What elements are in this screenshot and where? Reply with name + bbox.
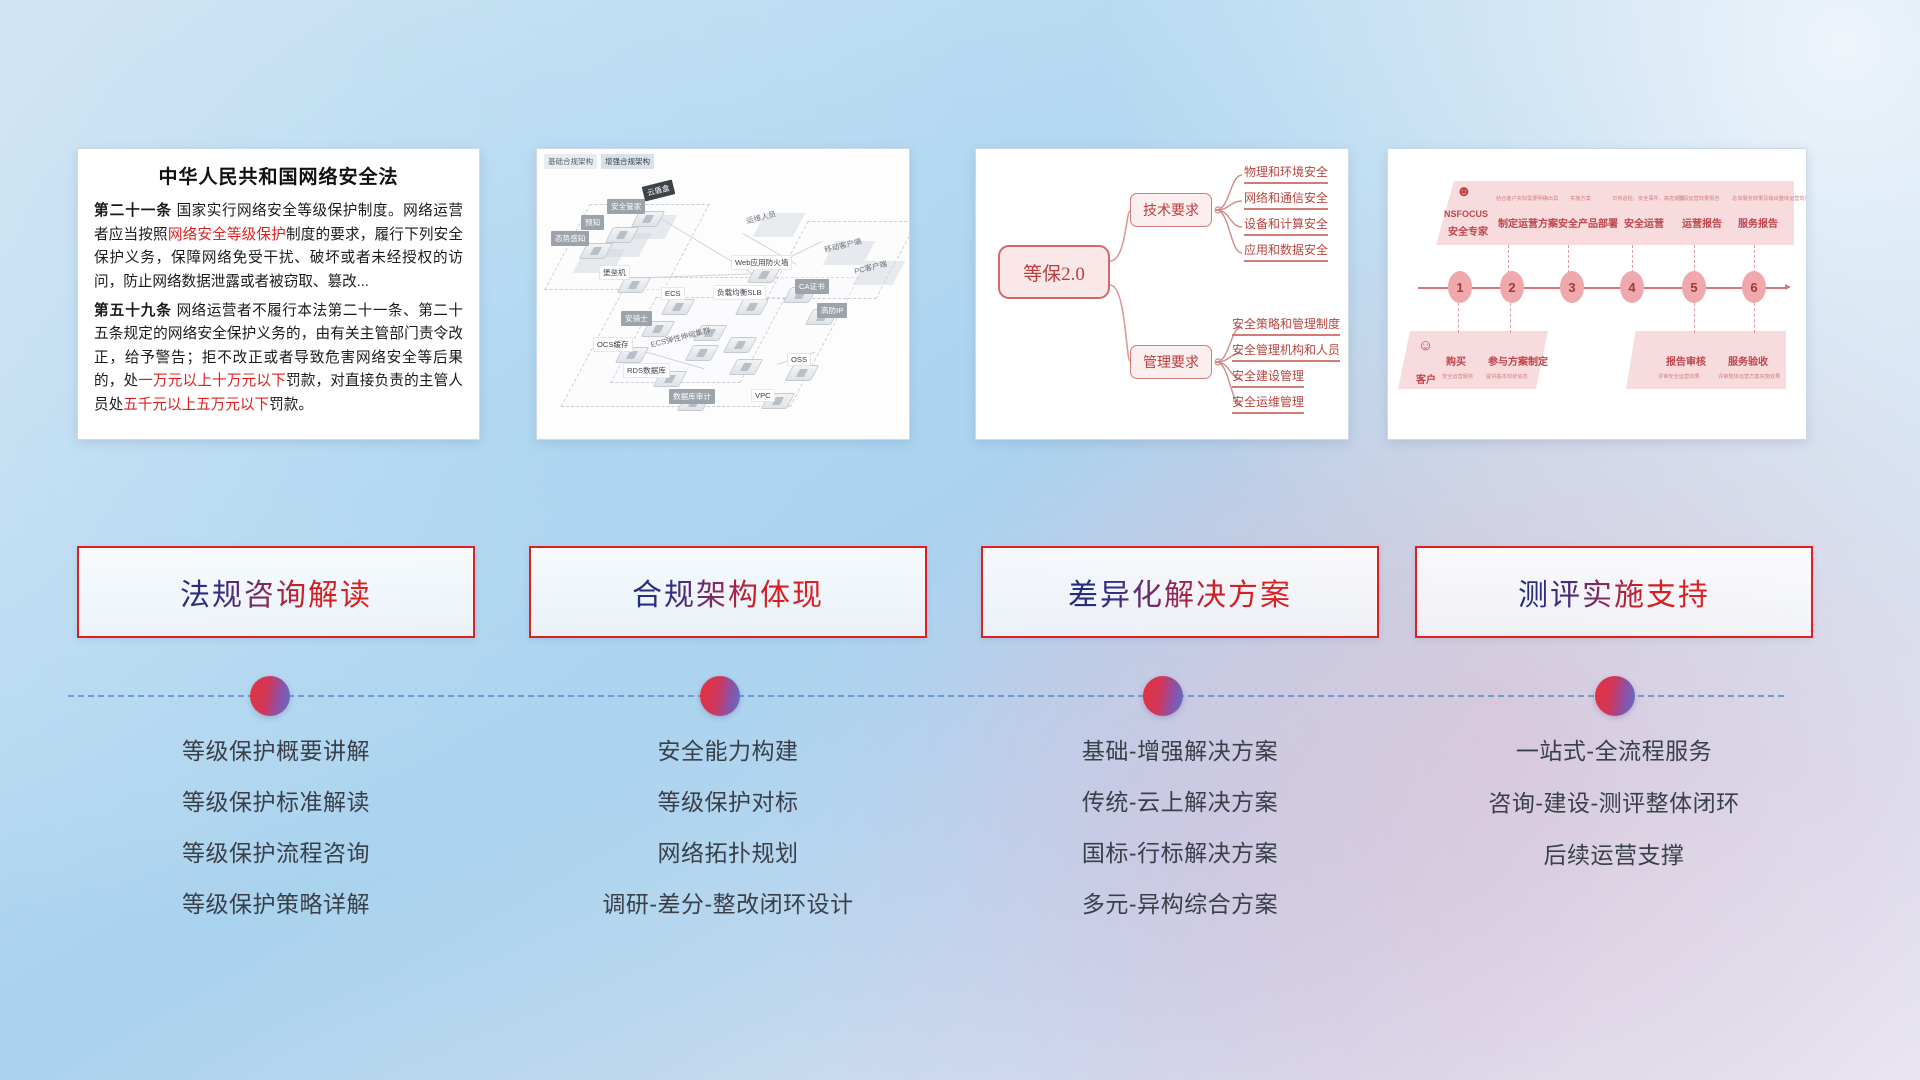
mindmap-branch-management[interactable]: 管理要求 xyxy=(1130,345,1212,379)
list-item: 等级保护流程咨询 xyxy=(77,842,475,865)
timeline-dashed-line xyxy=(68,695,1784,697)
mindmap-branch-technical[interactable]: 技术要求 xyxy=(1130,193,1212,227)
detail-list-4: 一站式-全流程服务 咨询-建设-测评整体闭环 后续运营支撑 xyxy=(1415,740,1813,896)
expert-brand: NSFOCUS xyxy=(1444,209,1488,219)
tab-basic-architecture[interactable]: 基础合规架构 xyxy=(544,154,597,169)
law-article-21: 第二十一条 国家实行网络安全等级保护制度。网络运营者应当按照网络安全等级保护制度… xyxy=(94,200,463,295)
mindmap-leaf-org-personnel: 安全管理机构和人员 xyxy=(1232,341,1340,362)
section-button-differentiated-solution[interactable]: 差异化解决方案 xyxy=(981,546,1379,638)
architecture-diagram: 基础合规架构 增强合规架构 xyxy=(537,149,909,439)
bottom-sub-3: 评审安全运营效果 xyxy=(1658,373,1700,380)
nsfocus-timeline: ☻ NSFOCUS 安全专家 结合客户实际需要明确出具 制定运营方案 实施方案 … xyxy=(1388,149,1806,439)
label-ecs: ECS xyxy=(661,287,685,300)
bottom-title-4: 服务验收 xyxy=(1728,353,1768,368)
list-item: 等级保护策略详解 xyxy=(77,893,475,916)
detail-list-2: 安全能力构建 等级保护对标 网络拓扑规划 调研-差分-整改闭环设计 xyxy=(529,740,927,944)
mindmap-leaf-app-data: 应用和数据安全 xyxy=(1244,241,1328,262)
law-article-59: 第五十九条 网络运营者不履行本法第二十一条、第二十五条规定的网络安全保护义务的，… xyxy=(94,300,463,418)
list-item: 等级保护标准解读 xyxy=(77,791,475,814)
article-21-highlight: 网络安全等级保护 xyxy=(168,227,286,243)
connector-top-2 xyxy=(1508,245,1509,273)
label-db-audit: 数据库审计 xyxy=(669,389,715,404)
section-button-compliance-architecture[interactable]: 合规架构体现 xyxy=(529,546,927,638)
list-item: 咨询-建设-测评整体闭环 xyxy=(1415,792,1813,815)
slide-root: 中华人民共和国网络安全法 第二十一条 国家实行网络安全等级保护制度。网络运营者应… xyxy=(0,0,1920,1080)
label-rds-database: RDS数据库 xyxy=(623,363,670,378)
section-button-label-3: 差异化解决方案 xyxy=(1068,570,1292,614)
card-nsfocus-service-flow[interactable]: ☻ NSFOCUS 安全专家 结合客户实际需要明确出具 制定运营方案 实施方案 … xyxy=(1387,148,1807,440)
timeline-dot-4[interactable] xyxy=(1595,676,1635,716)
timeline-dot-3[interactable] xyxy=(1143,676,1183,716)
connector-bottom-1 xyxy=(1458,303,1459,333)
timeline-dot-2[interactable] xyxy=(700,676,740,716)
bottom-sub-4: 评审整体运营方案实施效果 xyxy=(1718,373,1780,380)
customer-role: 客户 xyxy=(1416,371,1436,386)
timeline-axis xyxy=(1418,287,1786,289)
bottom-sub-1: 安全运营服务 xyxy=(1442,373,1473,380)
connector-top-4 xyxy=(1632,245,1633,273)
top-sub-3: 日常巡检、安全事件、高危处置 xyxy=(1612,195,1685,202)
section-button-label-4: 测评实施支持 xyxy=(1518,570,1710,614)
customer-person-icon: ☺ xyxy=(1418,337,1433,354)
connector-top-6 xyxy=(1754,245,1755,273)
list-item: 等级保护概要讲解 xyxy=(77,740,475,763)
card-cybersecurity-law[interactable]: 中华人民共和国网络安全法 第二十一条 国家实行网络安全等级保护制度。网络运营者应… xyxy=(77,148,480,440)
label-security-butler: 安全管家 xyxy=(607,199,645,214)
label-bastion-host: 堡垒机 xyxy=(599,265,630,280)
list-item: 一站式-全流程服务 xyxy=(1415,740,1813,763)
list-item: 后续运营支撑 xyxy=(1415,844,1813,867)
article-59-label: 第五十九条 xyxy=(94,303,172,319)
label-cloud-shield: 云盾盒 xyxy=(642,179,675,201)
top-sub-5: 总体服务效果及输出整体运营效果 xyxy=(1732,195,1807,202)
bottom-sub-2: 提供基本现状信息 xyxy=(1486,373,1528,380)
mindmap: 等保2.0 技术要求 管理要求 物理和环境安全 网络和通信安全 设备和计算安全 … xyxy=(976,149,1348,439)
step-marker-5[interactable]: 5 xyxy=(1682,271,1706,303)
mindmap-root-node[interactable]: 等保2.0 xyxy=(998,245,1110,299)
label-foreknowledge: 预知 xyxy=(581,215,604,230)
label-oss: OSS xyxy=(787,353,811,366)
expert-role: 安全专家 xyxy=(1448,223,1488,238)
mindmap-leaf-device-compute: 设备和计算安全 xyxy=(1244,215,1328,236)
list-item: 国标-行标解决方案 xyxy=(981,842,1379,865)
list-item: 基础-增强解决方案 xyxy=(981,740,1379,763)
label-ca-cert: CA证书 xyxy=(795,279,829,294)
list-item: 安全能力构建 xyxy=(529,740,927,763)
label-anqishi: 安骑士 xyxy=(621,311,652,326)
section-button-assessment-support[interactable]: 测评实施支持 xyxy=(1415,546,1813,638)
card-dengbao-mindmap[interactable]: 等保2.0 技术要求 管理要求 物理和环境安全 网络和通信安全 设备和计算安全 … xyxy=(975,148,1349,440)
top-sub-4: 阶段运营效果报告 xyxy=(1678,195,1720,202)
step-marker-1[interactable]: 1 xyxy=(1448,271,1472,303)
step-marker-4[interactable]: 4 xyxy=(1620,271,1644,303)
top-title-4: 运营报告 xyxy=(1682,215,1722,230)
mindmap-leaf-policy-system: 安全策略和管理制度 xyxy=(1232,315,1340,336)
section-button-label-2: 合规架构体现 xyxy=(632,570,824,614)
nsfocus-expert-band xyxy=(1436,181,1794,245)
detail-list-1: 等级保护概要讲解 等级保护标准解读 等级保护流程咨询 等级保护策略详解 xyxy=(77,740,475,944)
section-button-row: 法规咨询解读 合规架构体现 差异化解决方案 测评实施支持 xyxy=(0,546,1920,638)
step-marker-3[interactable]: 3 xyxy=(1560,271,1584,303)
reference-card-row: 中华人民共和国网络安全法 第二十一条 国家实行网络安全等级保护制度。网络运营者应… xyxy=(0,148,1920,440)
connector-bottom-6 xyxy=(1754,303,1755,333)
section-button-label-1: 法规咨询解读 xyxy=(180,570,372,614)
mindmap-leaf-construction-mgmt: 安全建设管理 xyxy=(1232,367,1304,388)
section-button-regulation-consulting[interactable]: 法规咨询解读 xyxy=(77,546,475,638)
connector-bottom-5 xyxy=(1694,303,1695,333)
bottom-title-2: 参与方案制定 xyxy=(1488,353,1548,368)
top-title-5: 服务报告 xyxy=(1738,215,1778,230)
article-21-label: 第二十一条 xyxy=(94,203,172,219)
top-title-2: 安全产品部署 xyxy=(1558,215,1618,230)
label-vpc: VPC xyxy=(751,389,775,402)
label-situational-awareness: 态势感知 xyxy=(551,231,589,246)
connector-top-3 xyxy=(1568,245,1569,273)
top-title-3: 安全运营 xyxy=(1624,215,1664,230)
article-59-highlight-1: 一万元以上十万元以下 xyxy=(138,373,286,389)
architecture-canvas: 态势感知 预知 安全管家 云盾盒 堡垒机 ECS 安骑士 OCS缓存 RDS数据… xyxy=(537,149,909,439)
bottom-title-1: 购买 xyxy=(1446,353,1466,368)
detail-list-3: 基础-增强解决方案 传统-云上解决方案 国标-行标解决方案 多元-异构综合方案 xyxy=(981,740,1379,944)
label-anti-ddos-ip: 高防IP xyxy=(817,303,847,318)
card-cloud-architecture[interactable]: 基础合规架构 增强合规架构 xyxy=(536,148,910,440)
list-item: 网络拓扑规划 xyxy=(529,842,927,865)
mindmap-leaf-network-comm: 网络和通信安全 xyxy=(1244,189,1328,210)
timeline xyxy=(0,676,1920,716)
label-slb: 负载均衡SLB xyxy=(713,285,766,300)
article-59-highlight-2: 五千元以上五万元以下 xyxy=(123,397,269,413)
list-item: 等级保护对标 xyxy=(529,791,927,814)
list-item: 传统-云上解决方案 xyxy=(981,791,1379,814)
law-document: 中华人民共和国网络安全法 第二十一条 国家实行网络安全等级保护制度。网络运营者应… xyxy=(78,149,479,431)
law-title: 中华人民共和国网络安全法 xyxy=(94,162,463,189)
tab-enhanced-architecture[interactable]: 增强合规架构 xyxy=(601,154,654,169)
top-sub-1: 结合客户实际需要明确出具 xyxy=(1496,195,1558,202)
mindmap-leaf-physical-env: 物理和环境安全 xyxy=(1244,163,1328,184)
bottom-title-3: 报告审核 xyxy=(1666,353,1706,368)
top-sub-2: 实施方案 xyxy=(1570,195,1591,202)
step-marker-6[interactable]: 6 xyxy=(1742,271,1766,303)
architecture-tab-bar[interactable]: 基础合规架构 增强合规架构 xyxy=(544,154,654,169)
label-ocs-cache: OCS缓存 xyxy=(593,337,633,352)
step-marker-2[interactable]: 2 xyxy=(1500,271,1524,303)
connector-bottom-2 xyxy=(1510,303,1511,333)
list-item: 多元-异构综合方案 xyxy=(981,893,1379,916)
label-waf: Web应用防火墙 xyxy=(731,255,792,270)
mindmap-leaf-ops-mgmt: 安全运维管理 xyxy=(1232,393,1304,414)
top-title-1: 制定运营方案 xyxy=(1498,215,1558,230)
expert-person-icon: ☻ xyxy=(1456,183,1472,200)
connector-top-5 xyxy=(1694,245,1695,273)
section-detail-lists: 等级保护概要讲解 等级保护标准解读 等级保护流程咨询 等级保护策略详解 安全能力… xyxy=(0,740,1920,960)
timeline-dot-1[interactable] xyxy=(250,676,290,716)
article-59-text-c: 罚款。 xyxy=(269,397,313,413)
list-item: 调研-差分-整改闭环设计 xyxy=(529,893,927,916)
